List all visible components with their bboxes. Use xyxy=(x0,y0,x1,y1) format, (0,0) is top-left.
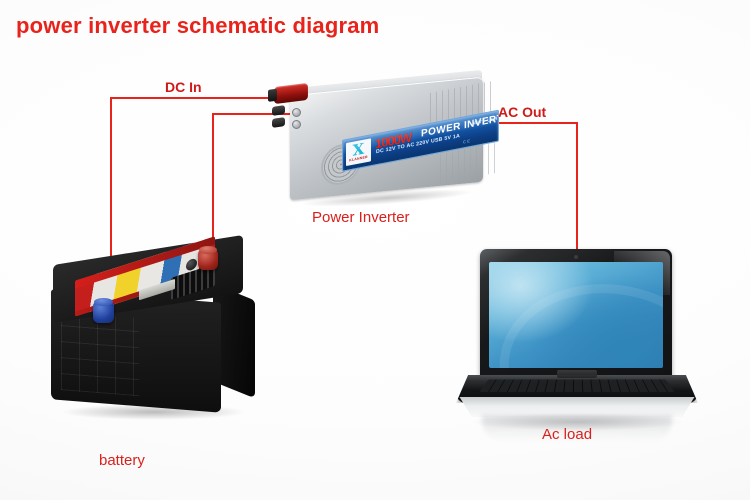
battery-positive-post[interactable] xyxy=(198,250,218,270)
schematic-diagram-canvas: power inverter schematic diagram DC In A… xyxy=(0,0,750,500)
battery[interactable] xyxy=(45,246,260,426)
laptop-screen xyxy=(489,262,663,368)
brand-logo: X KLANNER xyxy=(346,138,371,166)
laptop-keyboard[interactable] xyxy=(479,379,674,392)
page-title: power inverter schematic diagram xyxy=(16,13,379,39)
wire-ac-out-vertical xyxy=(576,122,578,250)
wire-label-ac-out: AC Out xyxy=(498,104,546,120)
wire-label-dc-in: DC In xyxy=(165,79,202,95)
inverter-screw-2 xyxy=(292,120,301,129)
power-inverter[interactable]: X KLANNER 1000W POWER INVERTER WITH USB … xyxy=(268,84,483,209)
webcam-icon xyxy=(574,255,578,259)
caption-battery: battery xyxy=(99,452,145,469)
inverter-negative-terminal-1[interactable] xyxy=(272,105,285,116)
laptop-ac-load[interactable] xyxy=(452,247,702,437)
caption-power-inverter: Power Inverter xyxy=(312,209,410,226)
laptop-lid xyxy=(480,249,672,382)
inverter-negative-terminal-2[interactable] xyxy=(272,117,285,128)
inverter-body: X KLANNER 1000W POWER INVERTER WITH USB … xyxy=(290,77,483,201)
wire-dc-negative-horizontal xyxy=(110,97,287,99)
battery-texture-grid xyxy=(61,312,139,396)
caption-ac-load: Ac load xyxy=(542,426,592,443)
inverter-usb-tag: WITH USB xyxy=(473,116,498,126)
inverter-cert-marks: CE xyxy=(463,138,471,145)
laptop-touchpad[interactable] xyxy=(557,370,597,378)
inverter-screw-1 xyxy=(292,108,301,117)
battery-negative-post[interactable] xyxy=(93,302,114,323)
